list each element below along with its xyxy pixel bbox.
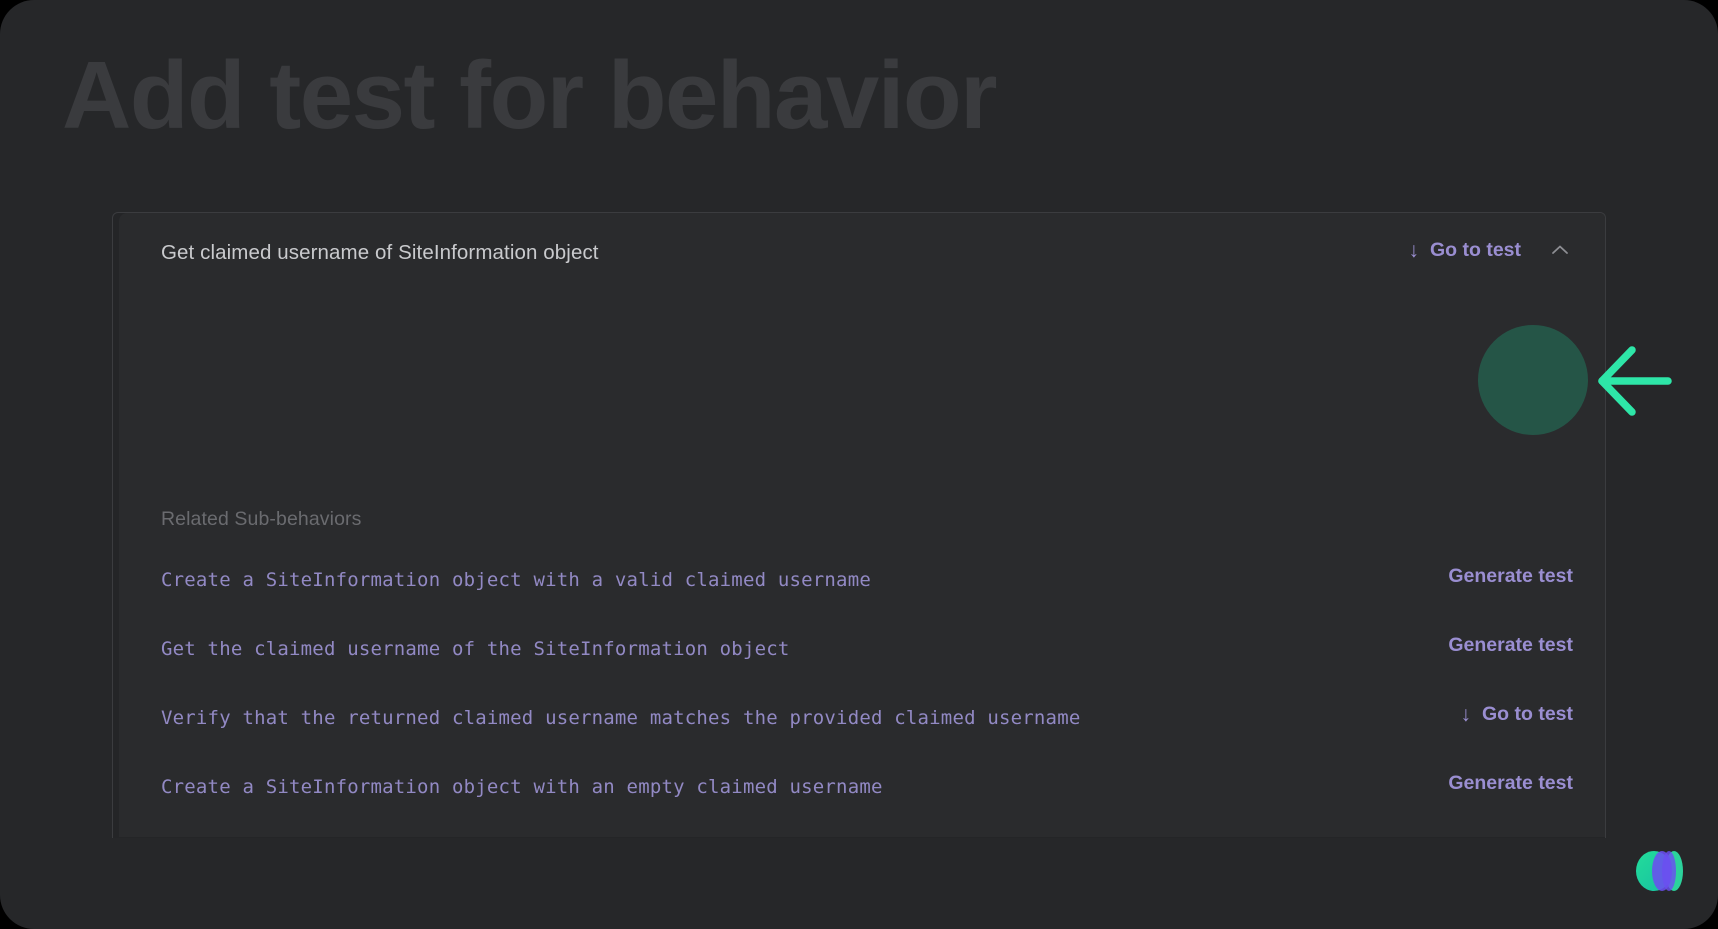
behavior-header-actions: ↓ Go to test — [1409, 237, 1574, 263]
sub-behavior-row: Get the claimed username of the SiteInfo… — [119, 632, 1606, 701]
sub-behavior-text: Get the claimed username of the SiteInfo… — [161, 632, 790, 667]
behavior-card: Get claimed username of SiteInformation … — [119, 213, 1606, 837]
sub-behavior-row: Create a SiteInformation object with an … — [119, 770, 1606, 837]
sub-behavior-action: ↓Go to test — [1461, 701, 1574, 726]
generate-test-link[interactable]: Generate test — [1448, 772, 1573, 795]
goto-test-label: Go to test — [1430, 239, 1521, 262]
sub-behavior-action: Generate test — [1448, 632, 1573, 657]
sub-behavior-text: Create a SiteInformation object with an … — [161, 770, 883, 805]
sub-behavior-list: Create a SiteInformation object with a v… — [119, 563, 1606, 837]
chevron-up-icon[interactable] — [1547, 237, 1573, 263]
related-sub-behaviors-label: Related Sub-behaviors — [161, 508, 361, 531]
sub-behavior-action: Generate test — [1448, 563, 1573, 588]
sub-behavior-text: Create a SiteInformation object with a v… — [161, 563, 871, 598]
sub-behavior-text: Verify that the returned claimed usernam… — [161, 701, 1080, 736]
arrow-down-icon: ↓ — [1461, 704, 1472, 725]
behavior-title: Get claimed username of SiteInformation … — [161, 241, 599, 265]
generate-test-link[interactable]: Generate test — [1448, 565, 1573, 588]
behavior-card-header: Get claimed username of SiteInformation … — [119, 213, 1606, 285]
app-screen: Add test for behavior Get claimed userna… — [0, 0, 1718, 929]
behavior-frame: Get claimed username of SiteInformation … — [112, 212, 1606, 838]
sub-behavior-row: Verify that the returned claimed usernam… — [119, 701, 1606, 770]
arrow-down-icon: ↓ — [1409, 240, 1420, 261]
sub-behavior-row: Create a SiteInformation object with a v… — [119, 563, 1606, 632]
goto-test-link[interactable]: ↓Go to test — [1461, 703, 1574, 726]
goto-test-label: Go to test — [1482, 703, 1573, 726]
goto-test-link-header[interactable]: ↓ Go to test — [1409, 239, 1522, 262]
generate-test-link[interactable]: Generate test — [1448, 634, 1573, 657]
app-logo — [1624, 835, 1696, 907]
page-title: Add test for behavior — [62, 36, 996, 156]
sub-behavior-action: Generate test — [1448, 770, 1573, 795]
